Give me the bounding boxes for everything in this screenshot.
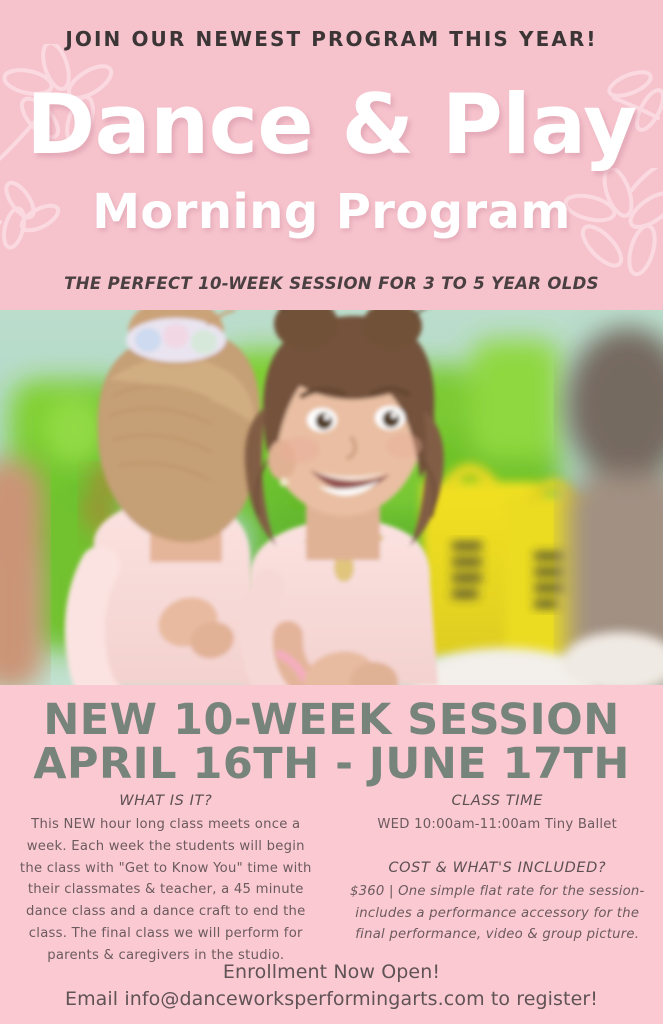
cost-heading: COST & WHAT'S INCLUDED? bbox=[348, 860, 648, 876]
session-heading-line1: NEW 10-WEEK SESSION bbox=[0, 699, 663, 742]
tagline-text: THE PERFECT 10-WEEK SESSION FOR 3 TO 5 Y… bbox=[0, 274, 663, 293]
dance-class-photo-illustration bbox=[0, 310, 663, 685]
page-subtitle: Morning Program bbox=[0, 188, 663, 236]
class-time-body: WED 10:00am-11:00am Tiny Ballet bbox=[348, 814, 648, 836]
page-title: Dance & Play bbox=[0, 83, 663, 166]
class-time-heading: CLASS TIME bbox=[348, 793, 648, 809]
kicker-text: JOIN OUR NEWEST PROGRAM THIS YEAR! bbox=[0, 27, 663, 51]
email-line[interactable]: Email info@danceworksperformingarts.com … bbox=[0, 986, 663, 1014]
cost-body: $360 | One simple flat rate for the sess… bbox=[348, 881, 648, 946]
column-what-is-it: WHAT IS IT? This NEW hour long class mee… bbox=[0, 793, 332, 966]
session-heading-line2: APRIL 16TH - JUNE 17TH bbox=[0, 743, 663, 786]
header-section: JOIN OUR NEWEST PROGRAM THIS YEAR! Dance… bbox=[0, 0, 663, 310]
details-columns: WHAT IS IT? This NEW hour long class mee… bbox=[0, 793, 663, 966]
column-spacer bbox=[348, 836, 648, 860]
enrollment-line: Enrollment Now Open! bbox=[0, 959, 663, 987]
footer-cta: Enrollment Now Open! Email info@dancewor… bbox=[0, 959, 663, 1014]
column-class-details: CLASS TIME WED 10:00am-11:00am Tiny Ball… bbox=[332, 793, 663, 966]
poster: JOIN OUR NEWEST PROGRAM THIS YEAR! Dance… bbox=[0, 0, 663, 1024]
what-is-it-heading: WHAT IS IT? bbox=[14, 793, 318, 809]
details-section: NEW 10-WEEK SESSION APRIL 16TH - JUNE 17… bbox=[0, 685, 663, 1024]
what-is-it-body: This NEW hour long class meets once a we… bbox=[14, 814, 318, 966]
hero-photo bbox=[0, 310, 663, 685]
